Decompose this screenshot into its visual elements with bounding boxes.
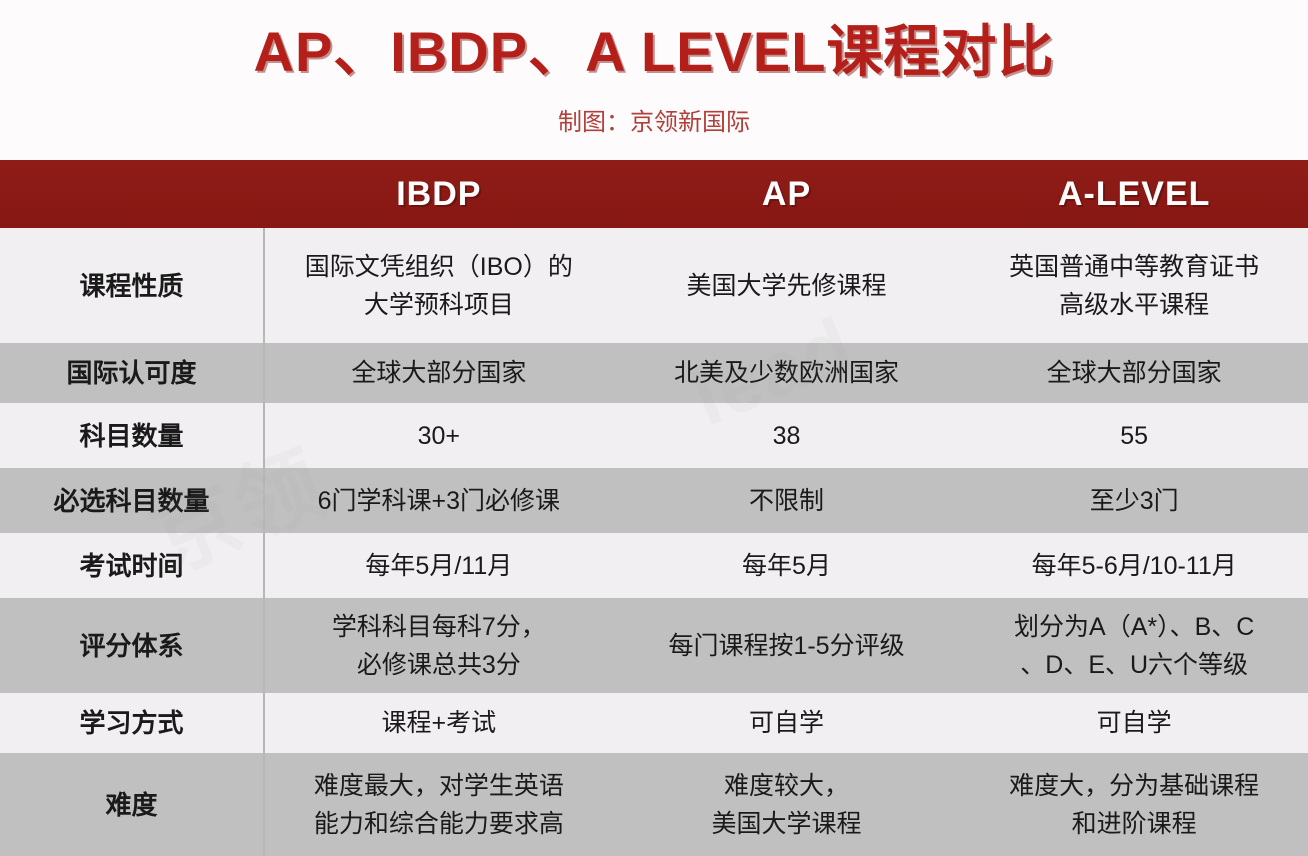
title-area: AP、IBDP、A LEVEL课程对比 制图：京领新国际 bbox=[0, 0, 1308, 160]
cell-ibdp: 国际文凭组织（IBO）的 大学预科项目 bbox=[265, 228, 613, 343]
cell-ap: 美国大学先修课程 bbox=[613, 228, 961, 343]
cell-ibdp: 课程+考试 bbox=[265, 693, 613, 753]
table-header-corner bbox=[0, 160, 265, 228]
cell-ibdp: 学科科目每科7分， 必修课总共3分 bbox=[265, 598, 613, 693]
comparison-table: IBDPAPA-LEVEL课程性质国际文凭组织（IBO）的 大学预科项目美国大学… bbox=[0, 160, 1308, 856]
cell-ibdp: 6门学科课+3门必修课 bbox=[265, 468, 613, 533]
row-label: 考试时间 bbox=[0, 533, 265, 598]
cell-ap: 可自学 bbox=[613, 693, 961, 753]
row-label: 难度 bbox=[0, 753, 265, 856]
cell-ap: 38 bbox=[613, 403, 961, 468]
cell-ibdp: 30+ bbox=[265, 403, 613, 468]
row-label: 国际认可度 bbox=[0, 343, 265, 403]
table-row: 学习方式课程+考试可自学可自学 bbox=[0, 693, 1308, 753]
table-row: 科目数量30+3855 bbox=[0, 403, 1308, 468]
cell-ap: 北美及少数欧洲国家 bbox=[613, 343, 961, 403]
cell-ibdp: 难度最大，对学生英语 能力和综合能力要求高 bbox=[265, 753, 613, 856]
table-header-alevel: A-LEVEL bbox=[960, 160, 1308, 228]
table-row: 评分体系学科科目每科7分， 必修课总共3分每门课程按1-5分评级划分为A（A*）… bbox=[0, 598, 1308, 693]
table-row: 国际认可度全球大部分国家北美及少数欧洲国家全球大部分国家 bbox=[0, 343, 1308, 403]
cell-alevel: 至少3门 bbox=[960, 468, 1308, 533]
infographic-page: AP、IBDP、A LEVEL课程对比 制图：京领新国际 京领 lead IBD… bbox=[0, 0, 1308, 856]
page-subtitle: 制图：京领新国际 bbox=[0, 108, 1308, 138]
cell-alevel: 划分为A（A*）、B、C 、D、E、U六个等级 bbox=[960, 598, 1308, 693]
cell-alevel: 全球大部分国家 bbox=[960, 343, 1308, 403]
cell-ibdp: 每年5月/11月 bbox=[265, 533, 613, 598]
cell-alevel: 英国普通中等教育证书 高级水平课程 bbox=[960, 228, 1308, 343]
page-title: AP、IBDP、A LEVEL课程对比 bbox=[0, 18, 1308, 86]
row-label: 学习方式 bbox=[0, 693, 265, 753]
cell-ibdp: 全球大部分国家 bbox=[265, 343, 613, 403]
cell-alevel: 每年5-6月/10-11月 bbox=[960, 533, 1308, 598]
cell-ap: 每年5月 bbox=[613, 533, 961, 598]
table-row: 考试时间每年5月/11月每年5月每年5-6月/10-11月 bbox=[0, 533, 1308, 598]
table-row: 难度难度最大，对学生英语 能力和综合能力要求高难度较大， 美国大学课程难度大，分… bbox=[0, 753, 1308, 856]
cell-ap: 不限制 bbox=[613, 468, 961, 533]
row-label: 必选科目数量 bbox=[0, 468, 265, 533]
row-label: 课程性质 bbox=[0, 228, 265, 343]
row-label: 评分体系 bbox=[0, 598, 265, 693]
table-header-ibdp: IBDP bbox=[265, 160, 613, 228]
cell-ap: 每门课程按1-5分评级 bbox=[613, 598, 961, 693]
cell-ap: 难度较大， 美国大学课程 bbox=[613, 753, 961, 856]
cell-alevel: 可自学 bbox=[960, 693, 1308, 753]
cell-alevel: 难度大，分为基础课程 和进阶课程 bbox=[960, 753, 1308, 856]
row-label: 科目数量 bbox=[0, 403, 265, 468]
cell-alevel: 55 bbox=[960, 403, 1308, 468]
table-row: 课程性质国际文凭组织（IBO）的 大学预科项目美国大学先修课程英国普通中等教育证… bbox=[0, 228, 1308, 343]
table-row: 必选科目数量6门学科课+3门必修课不限制至少3门 bbox=[0, 468, 1308, 533]
table-header-ap: AP bbox=[613, 160, 961, 228]
table-header-row: IBDPAPA-LEVEL bbox=[0, 160, 1308, 228]
